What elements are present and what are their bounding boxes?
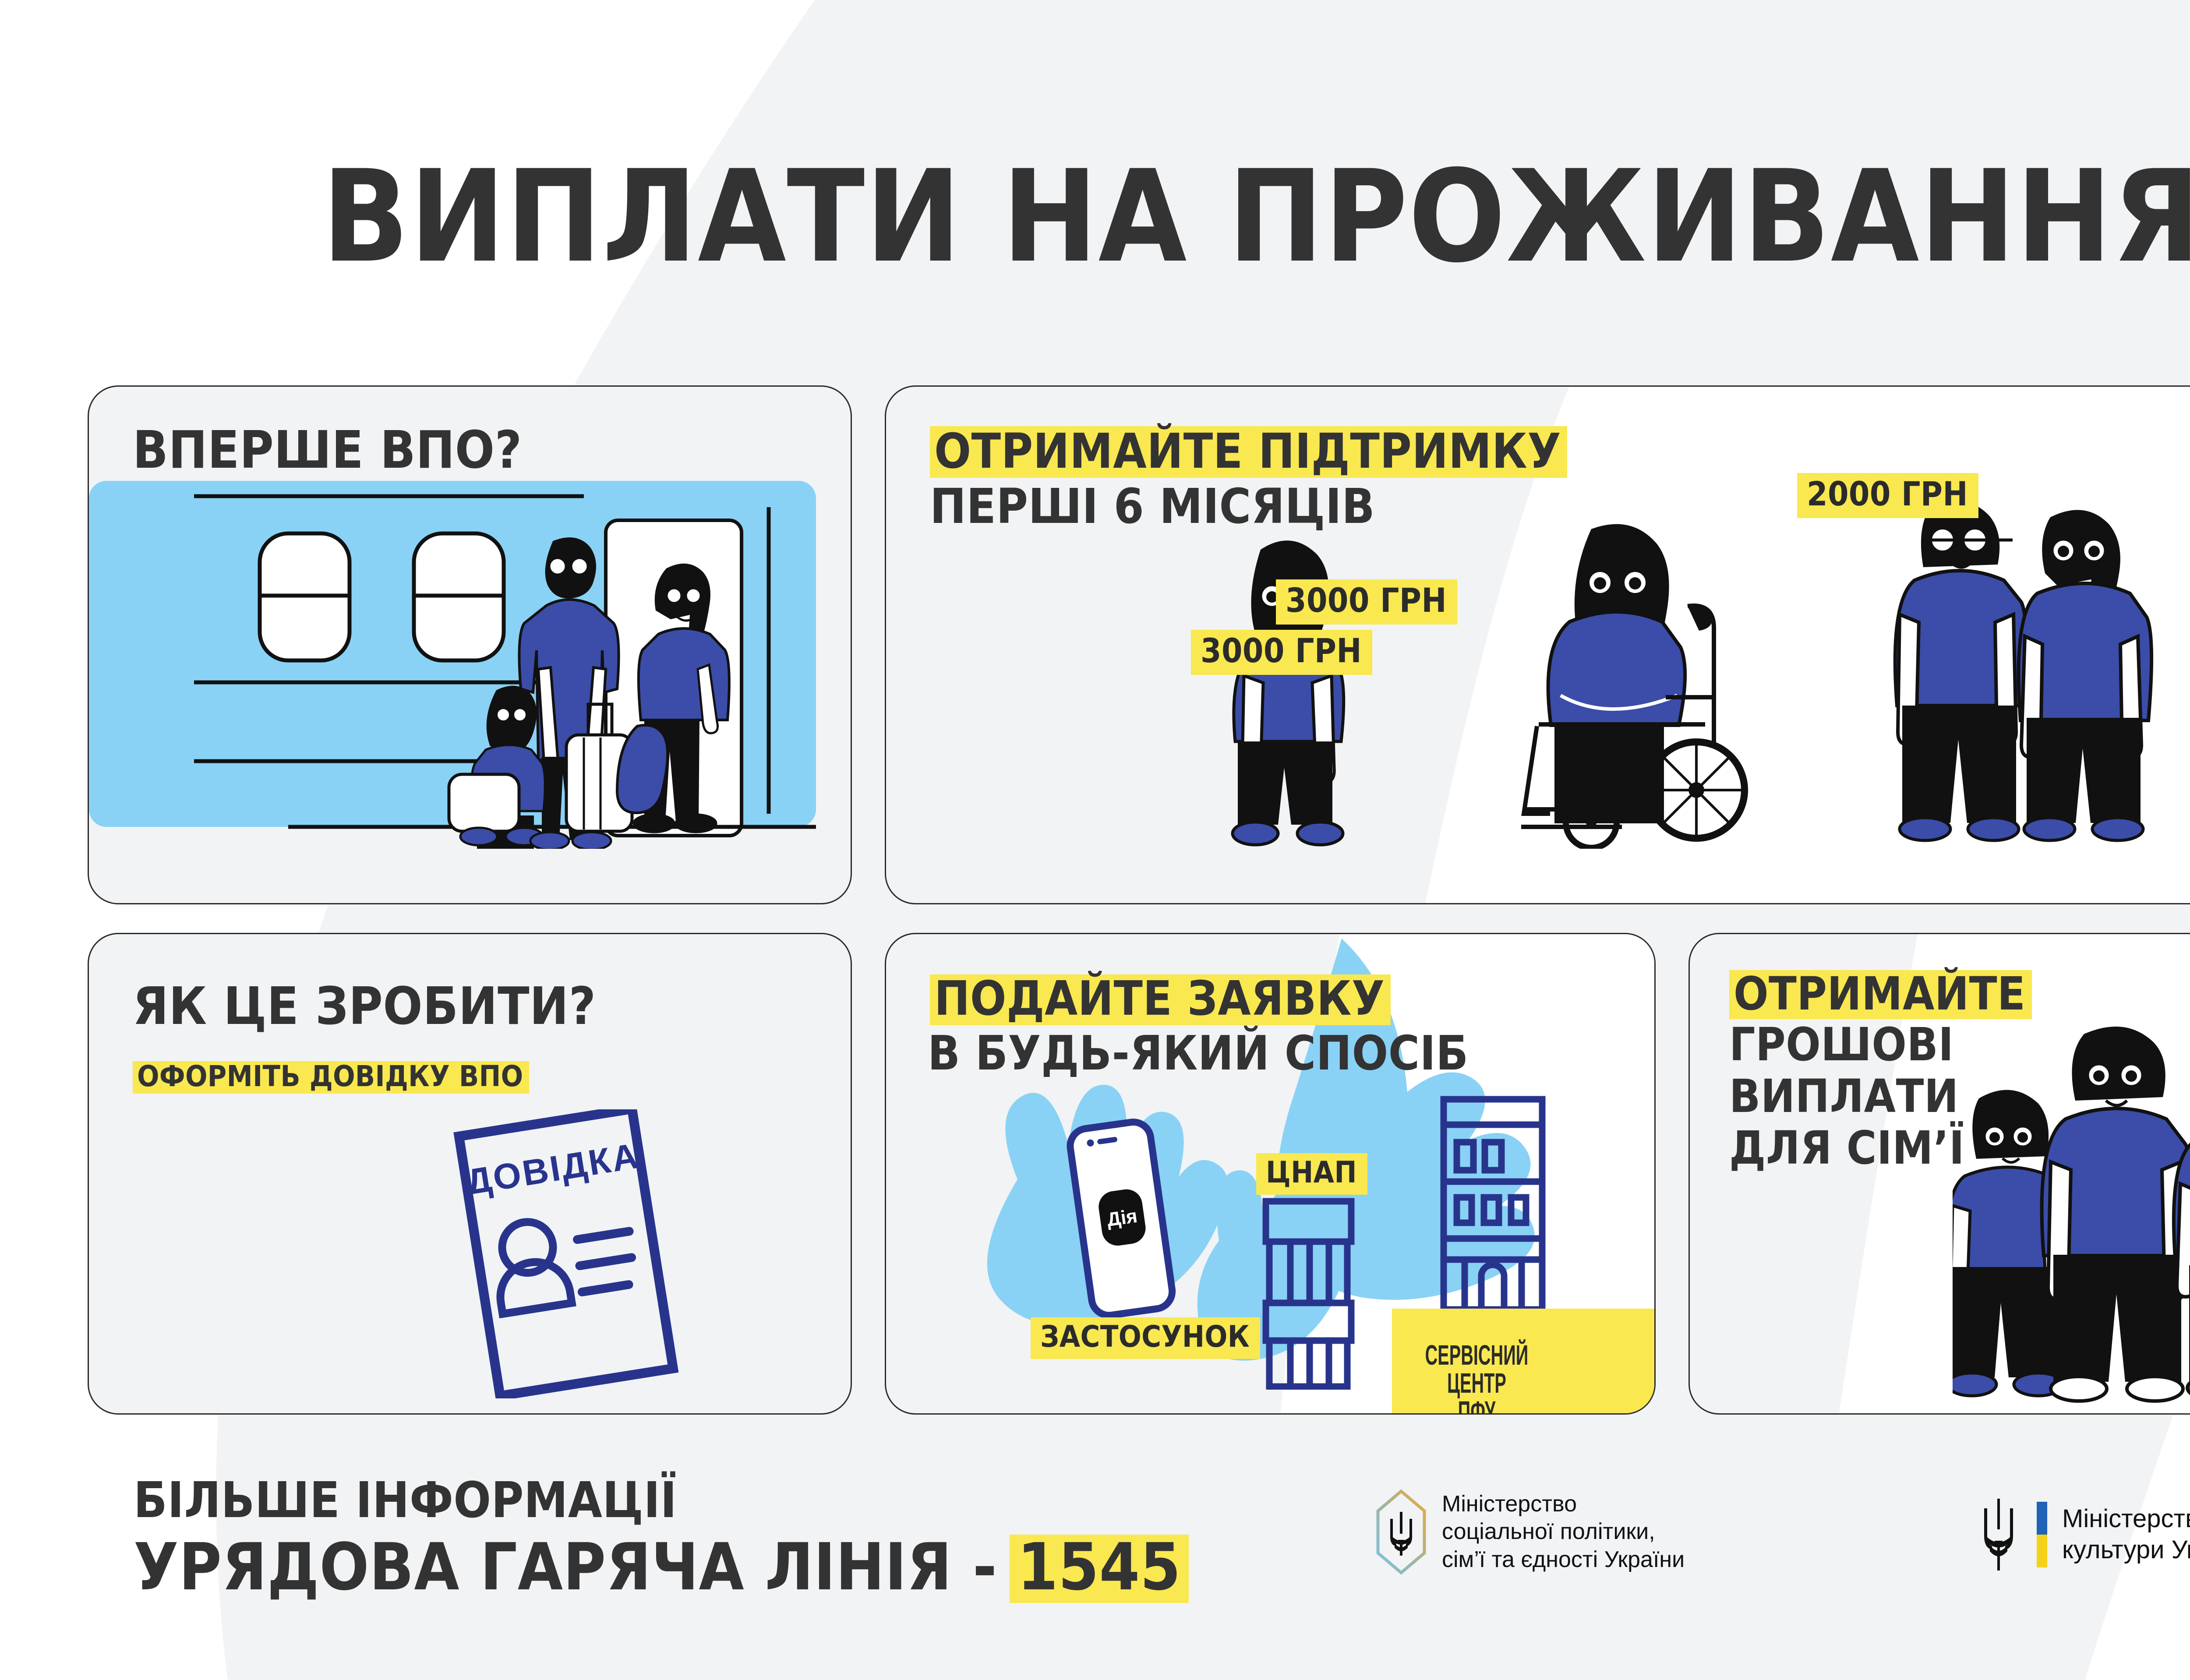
idp-certificate-illustration: ДОВІДКА — [404, 1109, 737, 1398]
footer-hotline-label: УРЯДОВА ГАРЯЧА ЛІНІЯ - — [134, 1529, 997, 1605]
family-of-four-illustration — [1953, 1022, 2190, 1407]
flag-bar-icon — [2037, 1502, 2047, 1567]
logo-ministry-culture-name: Міністерство культури України — [2062, 1504, 2190, 1566]
logo-ministry-culture: Міністерство культури України — [1975, 1497, 2190, 1572]
apply-option-label-app: ЗАСТОСУНОК — [1031, 1317, 1260, 1359]
card-apply-heading-sub: В БУДЬ-ЯКИЙ СПОСІБ — [928, 1030, 1469, 1077]
card-family-heading-line-2: ВИПЛАТИ — [1729, 1073, 1959, 1119]
building-icon — [1256, 1195, 1361, 1390]
card-support-heading-highlight-text: ОТРИМАЙТЕ ПІДТРИМКУ — [930, 426, 1567, 478]
footer-more-info: БІЛЬШЕ ІНФОРМАЦІЇ — [134, 1476, 1189, 1525]
child-figure-illustration — [1217, 531, 1361, 847]
office-building-icon — [1436, 1094, 1550, 1313]
card-howto-heading: ЯК ЦЕ ЗРОБИТИ? — [133, 980, 596, 1032]
footer-hotline-number: 1545 — [1010, 1535, 1189, 1603]
card-support: ОТРИМАЙТЕ ПІДТРИМКУ ПЕРШІ 6 МІСЯЦІВ — [885, 385, 2190, 904]
phone-icon: Дія — [1061, 1116, 1180, 1326]
card-first-idp-heading: ВПЕРШЕ ВПО? — [133, 424, 522, 476]
card-apply-heading-highlight: ПОДАЙТЕ ЗАЯВКУ — [930, 974, 1391, 1025]
amount-badge-child: 3000 ГРН — [1191, 630, 1372, 675]
logo-ministry-social-policy-name: Міністерство соціальної політики, сім’ї … — [1442, 1490, 1685, 1574]
card-apply: ПОДАЙТЕ ЗАЯВКУ В БУДЬ-ЯКИЙ СПОСІБ Дія — [885, 933, 1656, 1415]
card-support-heading-highlight: ОТРИМАЙТЕ ПІДТРИМКУ — [930, 426, 1567, 478]
footer: БІЛЬШЕ ІНФОРМАЦІЇ УРЯДОВА ГАРЯЧА ЛІНІЯ -… — [0, 1445, 2190, 1680]
train-family-illustration — [89, 481, 852, 849]
card-first-idp: ВПЕРШЕ ВПО? — [88, 385, 852, 904]
wheelchair-figure-illustration — [1460, 520, 1766, 849]
card-support-heading-sub: ПЕРШІ 6 МІСЯЦІВ — [930, 482, 1375, 531]
page-title: ВИПЛАТИ НА ПРОЖИВАННЯ ДЛЯ ВПО — [322, 153, 2190, 281]
amount-badge-man: 2000 ГРН — [1797, 473, 1978, 518]
svg-text:Дія: Дія — [1106, 1205, 1138, 1231]
footer-hotline: УРЯДОВА ГАРЯЧА ЛІНІЯ -1545 — [134, 1535, 1189, 1603]
card-howto: ЯК ЦЕ ЗРОБИТИ? ОФОРМІТЬ ДОВІДКУ ВПО ДОВІ… — [88, 933, 852, 1415]
trident-icon — [1975, 1497, 2022, 1572]
amount-badge-disability: 3000 ГРН — [1276, 579, 1457, 625]
card-family-heading-line-3: ДЛЯ СІМ’Ї — [1729, 1125, 1964, 1171]
page-title-text: ВИПЛАТИ НА ПРОЖИВАННЯ ДЛЯ ВПО — [322, 143, 2190, 291]
couple-figures-illustration — [1889, 479, 2169, 847]
card-family: ОТРИМАЙТЕ ГРОШОВІ ВИПЛАТИ ДЛЯ СІМ’Ї — [1688, 933, 2190, 1415]
footer-info-text: БІЛЬШЕ ІНФОРМАЦІЇ УРЯДОВА ГАРЯЧА ЛІНІЯ -… — [134, 1476, 1189, 1603]
logo-ministry-social-policy: Міністерство соціальної політики, сім’ї … — [1375, 1489, 1685, 1575]
svg-text:ДОВІДКА: ДОВІДКА — [463, 1136, 643, 1202]
card-family-heading-highlight: ОТРИМАЙТЕ — [1729, 970, 2032, 1019]
card-howto-highlight: ОФОРМІТЬ ДОВІДКУ ВПО — [133, 1061, 529, 1094]
card-family-heading-line-1: ГРОШОВІ — [1729, 1022, 1954, 1068]
trident-hexagon-icon — [1375, 1489, 1427, 1575]
apply-option-label-tsnap: ЦНАП — [1256, 1153, 1367, 1195]
apply-option-label-pfu: СЕРВІСНИЙ ЦЕНТР ПФУ — [1392, 1309, 1654, 1415]
